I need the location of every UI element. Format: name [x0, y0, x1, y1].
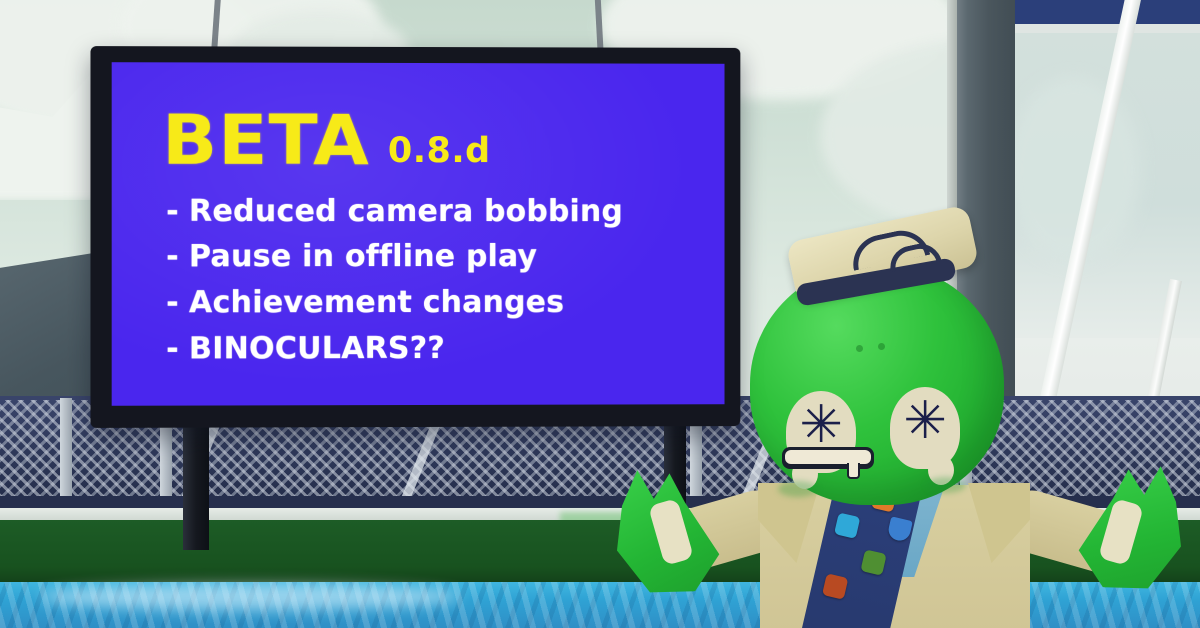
list-item-label: Achievement changes [189, 285, 564, 320]
bullet-dash: - [166, 193, 179, 228]
water-foam [40, 584, 460, 610]
list-item-label: Reduced camera bobbing [189, 193, 623, 228]
badge-cyan [834, 512, 860, 538]
game-scene: BETA 0.8.d -Reduced camera bobbing -Paus… [0, 0, 1200, 628]
star-pupil-icon: ✳ [798, 402, 844, 448]
bullet-dash: - [166, 286, 179, 321]
list-item-label: Pause in offline play [189, 239, 537, 274]
tooth [847, 463, 860, 479]
bullet-dash: - [166, 239, 179, 274]
list-item-label: BINOCULARS?? [189, 331, 445, 366]
mouth [782, 447, 874, 469]
badge-blue-triangle [886, 516, 912, 542]
badge-red [822, 573, 848, 599]
blush-left [778, 481, 818, 497]
badge-green [860, 549, 886, 575]
fence-post [60, 398, 72, 510]
mouth-inner [785, 450, 871, 464]
top-blue-band [990, 0, 1200, 26]
version-label: 0.8.d [388, 134, 491, 175]
sign-support-post [183, 410, 209, 550]
blush-right [926, 477, 966, 493]
star-pupil-icon: ✳ [902, 398, 948, 444]
nostril [856, 345, 863, 352]
mascot-character[interactable]: ✳ ✳ [600, 215, 1200, 628]
right-eye: ✳ [890, 387, 960, 469]
sign-title-row: BETA 0.8.d [166, 109, 707, 175]
beta-title: BETA [162, 109, 370, 175]
nostril [878, 343, 885, 350]
bullet-dash: - [166, 332, 179, 367]
